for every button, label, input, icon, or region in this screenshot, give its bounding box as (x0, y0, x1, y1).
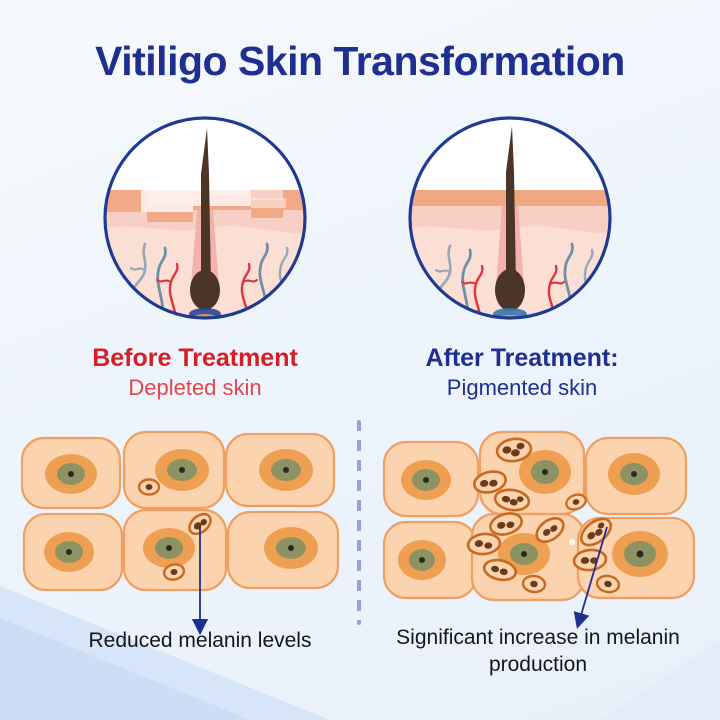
panel-divider (357, 420, 361, 625)
page-title: Vitiligo Skin Transformation (0, 38, 720, 85)
after-caption: After Treatment: Pigmented skin (357, 344, 687, 401)
before-caption: Before Treatment Depleted skin (30, 344, 360, 401)
before-heading: Before Treatment (30, 344, 360, 374)
before-subheading: Depleted skin (30, 374, 360, 402)
infographic-canvas: Vitiligo Skin Transformation (0, 0, 720, 720)
after-cell-cluster (382, 424, 712, 619)
after-skin-diagram (406, 114, 614, 322)
after-note: Significant increase in melanin producti… (378, 625, 698, 679)
after-subheading: Pigmented skin (357, 374, 687, 402)
before-note: Reduced melanin levels (40, 628, 360, 655)
after-heading: After Treatment: (357, 344, 687, 374)
before-cell-cluster (14, 428, 344, 613)
before-skin-diagram (101, 114, 309, 322)
